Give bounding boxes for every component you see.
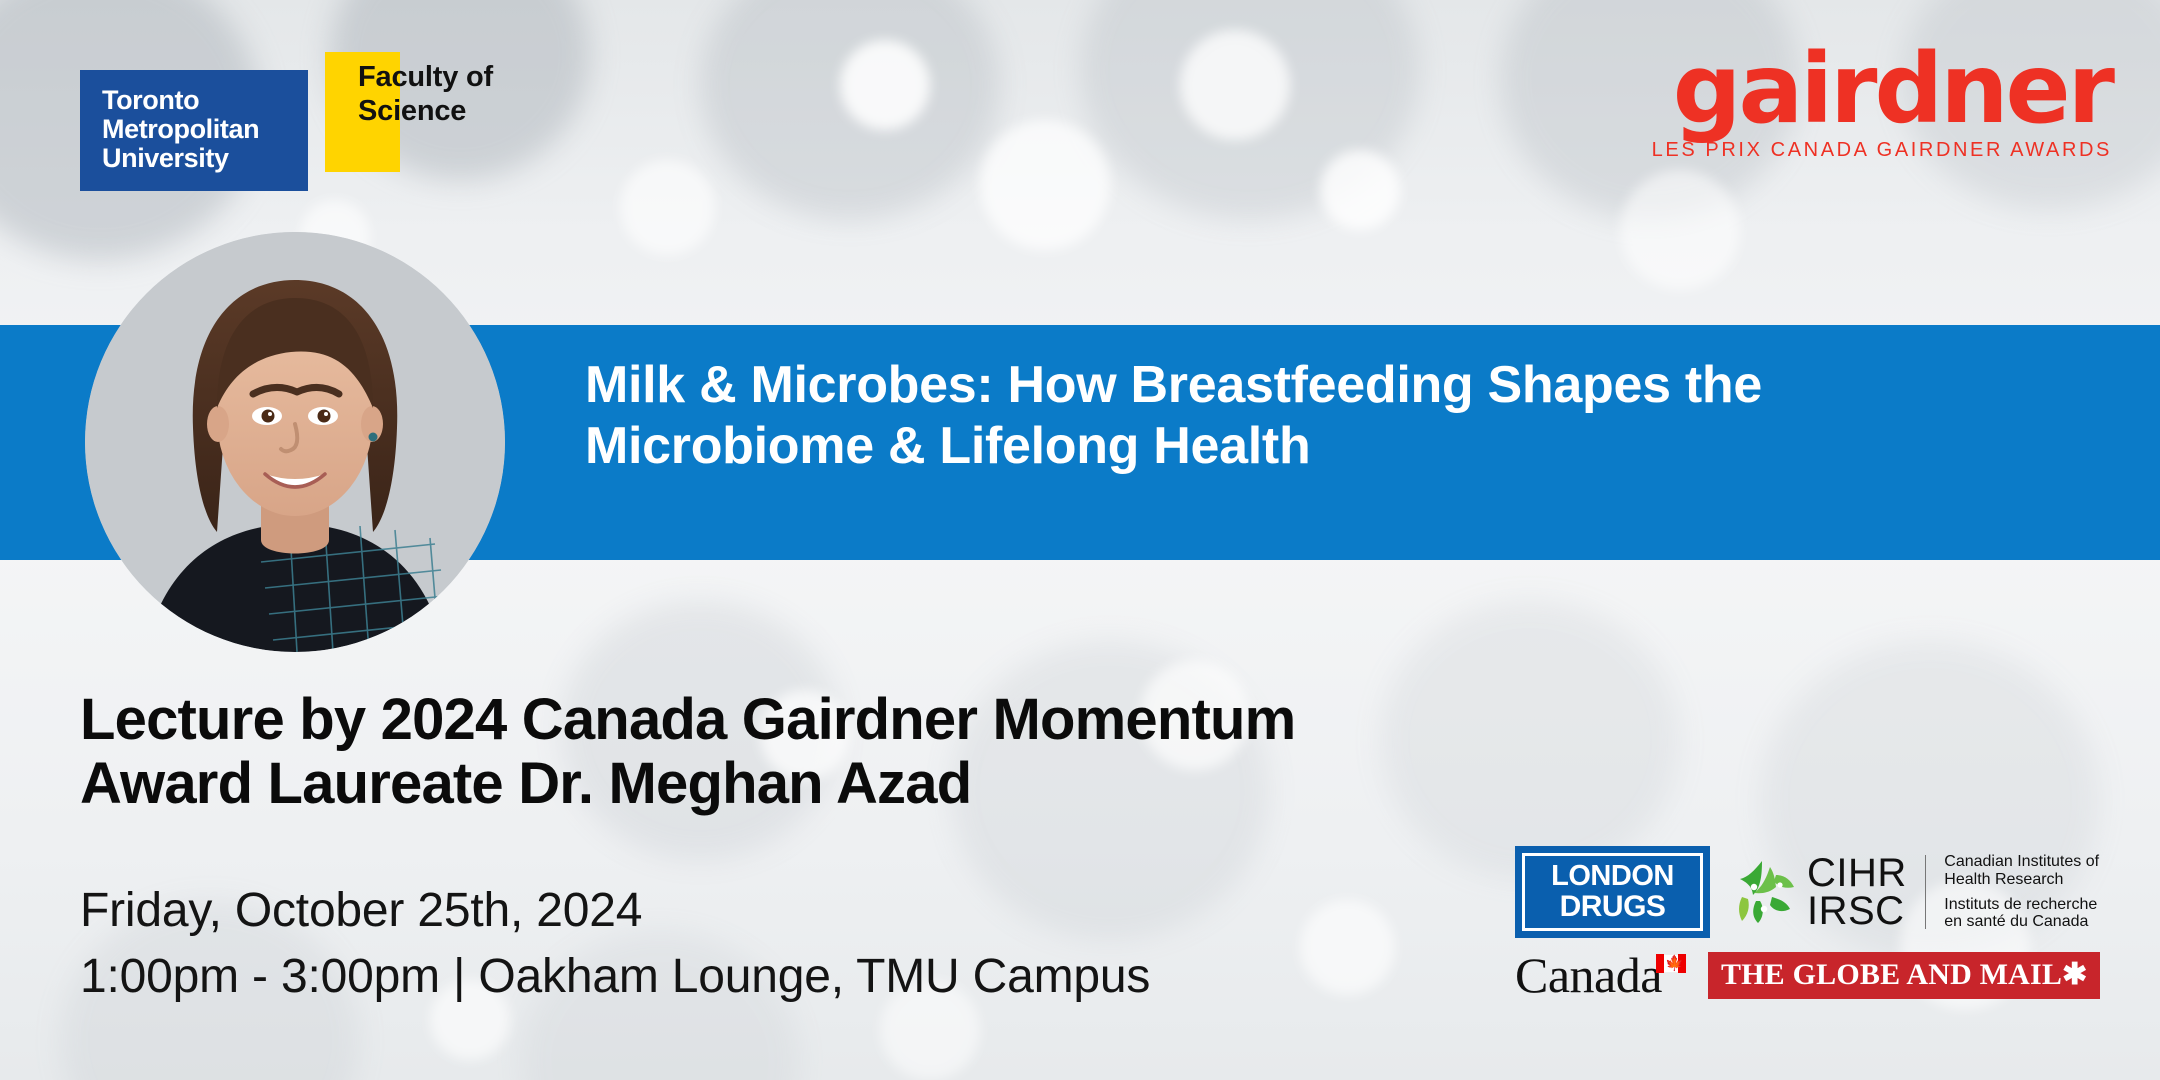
cihr-name-en-line-2: Health Research [1944, 871, 2063, 888]
canada-wordmark: Canada [1515, 952, 1662, 1000]
event-poster: Toronto Metropolitan University Faculty … [0, 0, 2160, 1080]
tmu-line-2: Metropolitan [102, 115, 286, 144]
event-time-location: 1:00pm - 3:00pm | Oakham Lounge, TMU Cam… [80, 944, 1560, 1010]
faculty-label: Faculty of Science [358, 60, 493, 128]
canada-wordmark-logo: Canada 🍁 [1515, 952, 1686, 1000]
london-drugs-line-2: DRUGS [1529, 892, 1696, 923]
event-headline: Lecture by 2024 Canada Gairdner Momentum… [80, 688, 1700, 816]
cihr-acronym-en: CIHR [1807, 854, 1907, 892]
london-drugs-logo: LONDON DRUGS [1515, 846, 1710, 938]
maple-leaf-icon [1732, 857, 1798, 927]
speaker-portrait-illustration [85, 232, 505, 652]
cihr-name-fr-line-1: Instituts de recherche [1944, 896, 2097, 913]
lecture-title-line-2: Microbiome & Lifelong Health [585, 416, 2035, 477]
tmu-logo: Toronto Metropolitan University [80, 70, 308, 191]
faculty-line-1: Faculty of [358, 60, 493, 94]
event-details: Friday, October 25th, 2024 1:00pm - 3:00… [80, 878, 1560, 1010]
globe-and-mail-logo: THE GLOBE AND MAIL✱ [1708, 952, 2101, 999]
lecture-title: Milk & Microbes: How Breastfeeding Shape… [585, 355, 2035, 478]
gairdner-tagline: LES PRIX CANADA GAIRDNER AWARDS [1652, 139, 2112, 162]
cihr-logo: CIHR IRSC Canadian Institutes of Health … [1732, 853, 2099, 932]
faculty-line-2: Science [358, 94, 493, 128]
cihr-divider [1925, 855, 1927, 930]
london-drugs-line-1: LONDON [1529, 862, 1696, 892]
cihr-name-fr: Instituts de recherche en santé du Canad… [1944, 896, 2099, 932]
tmu-line-1: Toronto [102, 86, 286, 115]
sponsor-logos: LONDON DRUGS [1515, 846, 2115, 1000]
cihr-name-en-line-1: Canadian Institutes of [1944, 853, 2099, 870]
gairdner-wordmark: gairdner [1652, 48, 2112, 131]
lecture-title-line-1: Milk & Microbes: How Breastfeeding Shape… [585, 355, 2035, 416]
canada-flag-icon: 🍁 [1656, 954, 1686, 973]
globe-and-mail-wordmark: THE GLOBE AND MAIL✱ [1721, 958, 2088, 991]
gairdner-logo: gairdner LES PRIX CANADA GAIRDNER AWARDS [1652, 48, 2112, 162]
cihr-name-en: Canadian Institutes of Health Research [1944, 853, 2099, 889]
tmu-logo-box: Toronto Metropolitan University [80, 70, 308, 191]
cihr-name-fr-line-2: en santé du Canada [1944, 913, 2088, 930]
tmu-line-3: University [102, 144, 286, 173]
globe-and-mail-mark: ✱ [2062, 958, 2087, 991]
cihr-acronym-fr: IRSC [1807, 892, 1907, 930]
event-headline-line-2: Award Laureate Dr. Meghan Azad [80, 752, 1700, 816]
event-headline-line-1: Lecture by 2024 Canada Gairdner Momentum [80, 688, 1700, 752]
event-date: Friday, October 25th, 2024 [80, 878, 1560, 944]
speaker-portrait [85, 232, 505, 652]
